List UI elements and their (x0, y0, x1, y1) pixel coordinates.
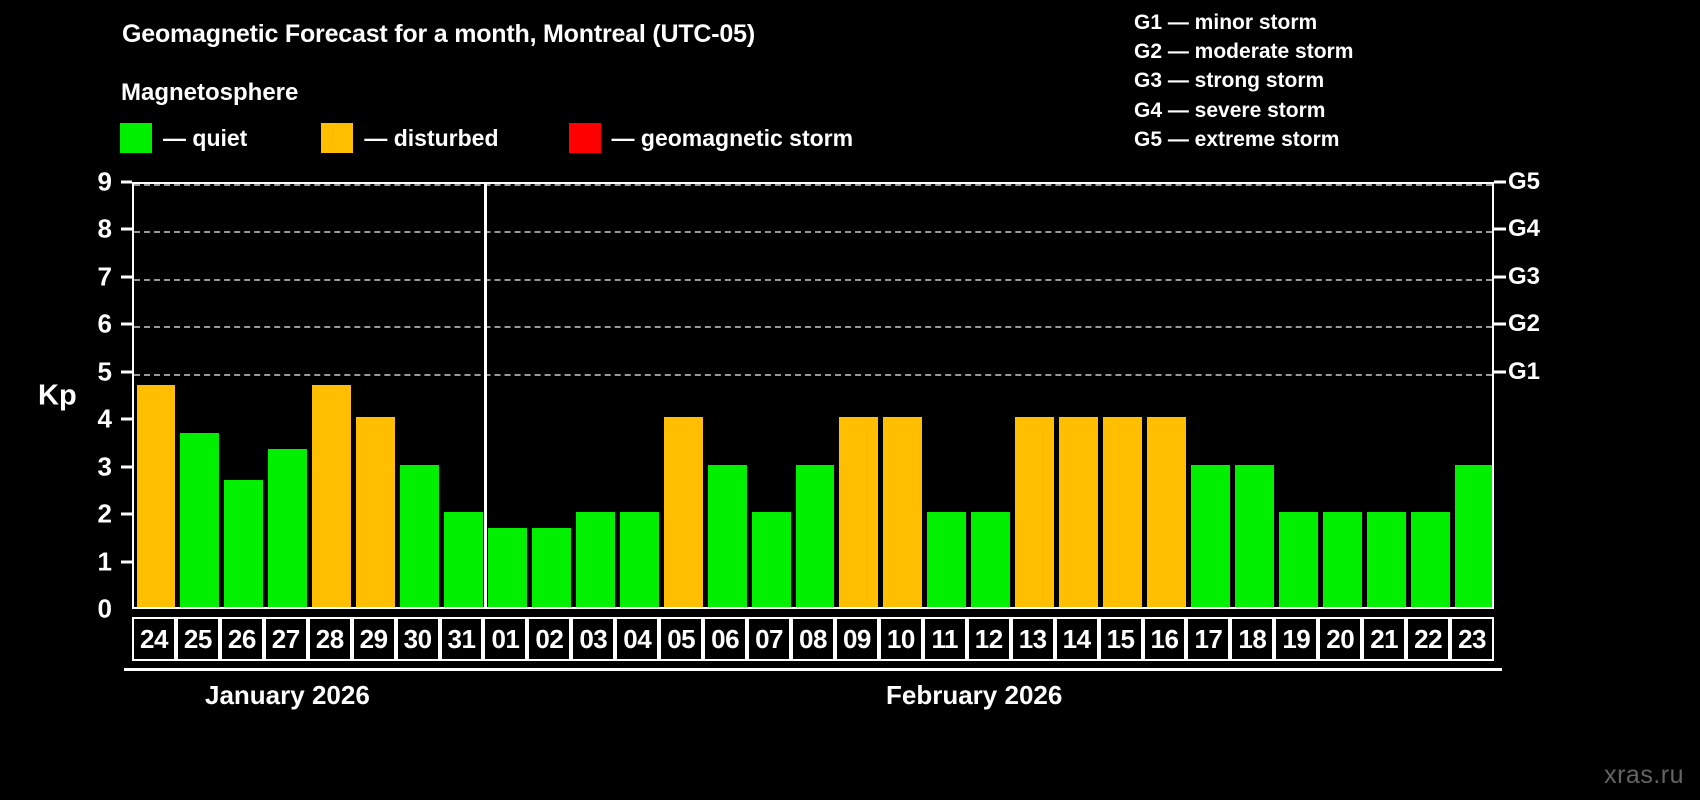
legend-item-storm: — geomagnetic storm (569, 123, 854, 153)
y-tick-label-7: 7 (78, 261, 112, 292)
chart-canvas: Geomagnetic Forecast for a month, Montre… (0, 0, 1700, 800)
gridline-kp-8 (134, 231, 1492, 233)
month-caption-january: January 2026 (205, 680, 370, 711)
y-tick-mark-6 (121, 323, 132, 326)
bar-day-30[interactable] (400, 465, 439, 607)
g-tick-label-G1: G1 (1508, 358, 1540, 386)
y-tick-label-4: 4 (78, 404, 112, 435)
day-label-11[interactable]: 11 (923, 617, 967, 661)
day-label-25[interactable]: 25 (176, 617, 220, 661)
chart-subtitle: Magnetosphere (121, 79, 298, 107)
bar-day-19[interactable] (1279, 512, 1318, 607)
g-tick-mark-G5 (1494, 181, 1506, 184)
bar-day-25[interactable] (180, 433, 219, 607)
g-tick-mark-G4 (1494, 228, 1506, 231)
day-label-30[interactable]: 30 (396, 617, 440, 661)
bar-day-21[interactable] (1367, 512, 1406, 607)
day-label-13[interactable]: 13 (1011, 617, 1055, 661)
y-tick-label-2: 2 (78, 499, 112, 530)
bar-day-06[interactable] (708, 465, 747, 607)
bar-day-13[interactable] (1015, 417, 1054, 607)
g-scale-row-g5: G5 — extreme storm (1134, 125, 1353, 154)
g-tick-mark-G3 (1494, 275, 1506, 278)
y-tick-label-9: 9 (78, 167, 112, 198)
day-label-14[interactable]: 14 (1055, 617, 1099, 661)
y-tick-mark-2 (121, 513, 132, 516)
bar-day-10[interactable] (883, 417, 922, 607)
y-tick-mark-4 (121, 418, 132, 421)
y-tick-mark-7 (121, 275, 132, 278)
orange-square-icon (321, 123, 353, 153)
day-label-08[interactable]: 08 (791, 617, 835, 661)
day-label-18[interactable]: 18 (1230, 617, 1274, 661)
day-label-16[interactable]: 16 (1143, 617, 1187, 661)
day-label-22[interactable]: 22 (1406, 617, 1450, 661)
bar-day-18[interactable] (1235, 465, 1274, 607)
bar-day-08[interactable] (796, 465, 835, 607)
g-scale-row-g3: G3 — strong storm (1134, 66, 1353, 95)
day-label-26[interactable]: 26 (220, 617, 264, 661)
day-label-29[interactable]: 29 (352, 617, 396, 661)
day-label-strip: 2425262728293031010203040506070809101112… (132, 617, 1494, 661)
legend-label-disturbed: — disturbed (364, 125, 498, 152)
bar-day-03[interactable] (576, 512, 615, 607)
g-tick-mark-G1 (1494, 370, 1506, 373)
day-label-31[interactable]: 31 (440, 617, 484, 661)
month-divider-line (484, 184, 487, 607)
day-label-02[interactable]: 02 (527, 617, 571, 661)
bar-day-07[interactable] (752, 512, 791, 607)
g-tick-label-G5: G5 (1508, 168, 1540, 196)
y-tick-mark-8 (121, 228, 132, 231)
bar-day-22[interactable] (1411, 512, 1450, 607)
day-label-09[interactable]: 09 (835, 617, 879, 661)
bar-day-09[interactable] (839, 417, 878, 607)
day-label-28[interactable]: 28 (308, 617, 352, 661)
y-tick-label-0: 0 (78, 594, 112, 625)
y-tick-label-5: 5 (78, 356, 112, 387)
g-tick-mark-G2 (1494, 323, 1506, 326)
gridline-kp-5 (134, 374, 1492, 376)
bar-day-17[interactable] (1191, 465, 1230, 607)
legend-item-disturbed: — disturbed (321, 123, 498, 153)
day-label-12[interactable]: 12 (967, 617, 1011, 661)
bar-day-31[interactable] (444, 512, 483, 607)
axis-baseline (124, 668, 1502, 671)
bar-day-28[interactable] (312, 385, 351, 607)
g-scale-row-g2: G2 — moderate storm (1134, 37, 1353, 66)
day-label-15[interactable]: 15 (1099, 617, 1143, 661)
y-tick-mark-5 (121, 370, 132, 373)
bar-day-15[interactable] (1103, 417, 1142, 607)
day-label-05[interactable]: 05 (659, 617, 703, 661)
bar-day-16[interactable] (1147, 417, 1186, 607)
bar-day-23[interactable] (1455, 465, 1492, 607)
day-label-20[interactable]: 20 (1318, 617, 1362, 661)
day-label-10[interactable]: 10 (879, 617, 923, 661)
watermark: xras.ru (1604, 761, 1684, 790)
day-label-07[interactable]: 07 (747, 617, 791, 661)
bar-day-11[interactable] (927, 512, 966, 607)
bar-day-02[interactable] (532, 528, 571, 607)
bar-day-24[interactable] (137, 385, 176, 607)
bar-day-20[interactable] (1323, 512, 1362, 607)
g-tick-label-G2: G2 (1508, 310, 1540, 338)
bar-day-04[interactable] (620, 512, 659, 607)
bar-day-12[interactable] (971, 512, 1010, 607)
bar-day-26[interactable] (224, 480, 263, 607)
bar-day-29[interactable] (356, 417, 395, 607)
day-label-27[interactable]: 27 (264, 617, 308, 661)
y-tick-label-8: 8 (78, 214, 112, 245)
color-legend: — quiet — disturbed — geomagnetic storm (120, 122, 853, 154)
legend-label-storm: — geomagnetic storm (612, 125, 854, 152)
red-square-icon (569, 123, 601, 153)
y-tick-label-3: 3 (78, 451, 112, 482)
gridline-kp-9 (134, 184, 1492, 186)
g-tick-label-G4: G4 (1508, 215, 1540, 243)
y-tick-mark-3 (121, 465, 132, 468)
bar-day-27[interactable] (268, 449, 307, 607)
day-label-06[interactable]: 06 (703, 617, 747, 661)
page-title: Geomagnetic Forecast for a month, Montre… (122, 20, 755, 49)
y-tick-label-1: 1 (78, 546, 112, 577)
y-tick-mark-9 (121, 181, 132, 184)
gridline-kp-6 (134, 326, 1492, 328)
bar-day-01[interactable] (488, 528, 527, 607)
legend-item-quiet: — quiet (120, 123, 247, 153)
green-square-icon (120, 123, 152, 153)
bar-day-05[interactable] (664, 417, 703, 607)
g-scale-legend: G1 — minor storm G2 — moderate storm G3 … (1134, 8, 1353, 154)
bar-day-14[interactable] (1059, 417, 1098, 607)
plot-inner (134, 184, 1492, 607)
y-axis-title: Kp (38, 380, 77, 413)
day-label-24[interactable]: 24 (132, 617, 176, 661)
g-tick-label-G3: G3 (1508, 263, 1540, 291)
day-label-23[interactable]: 23 (1450, 617, 1494, 661)
legend-label-quiet: — quiet (163, 125, 247, 152)
y-tick-mark-1 (121, 560, 132, 563)
plot-area (132, 182, 1494, 609)
y-tick-label-6: 6 (78, 309, 112, 340)
day-label-19[interactable]: 19 (1274, 617, 1318, 661)
day-label-03[interactable]: 03 (571, 617, 615, 661)
day-label-01[interactable]: 01 (483, 617, 527, 661)
gridline-kp-7 (134, 279, 1492, 281)
day-label-21[interactable]: 21 (1362, 617, 1406, 661)
g-scale-row-g1: G1 — minor storm (1134, 8, 1353, 37)
month-caption-february: February 2026 (886, 680, 1062, 711)
day-label-04[interactable]: 04 (615, 617, 659, 661)
g-scale-row-g4: G4 — severe storm (1134, 96, 1353, 125)
day-label-17[interactable]: 17 (1186, 617, 1230, 661)
